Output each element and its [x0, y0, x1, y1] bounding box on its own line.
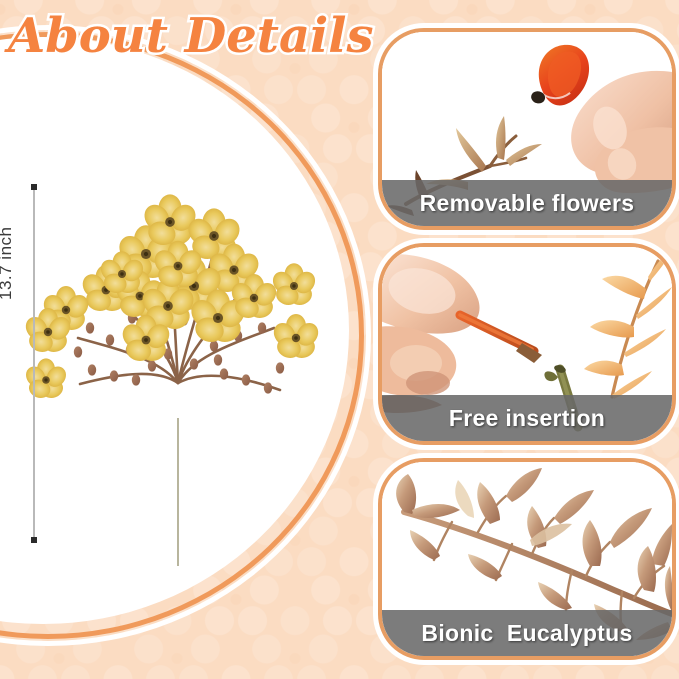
ruler-cap-top: [31, 184, 37, 190]
panel-caption-removable-flowers: Removable flowers: [382, 180, 672, 226]
page-title: About Details: [8, 8, 374, 64]
detail-panel-removable-flowers[interactable]: Removable flowers: [378, 28, 676, 230]
panel-caption-free-insertion: Free insertion: [382, 395, 672, 441]
panel-caption-bionic-eucalyptus: Bionic Eucalyptus: [382, 610, 672, 656]
detail-panel-free-insertion[interactable]: Free insertion: [378, 243, 676, 445]
measurement-label: 13.7 inch: [0, 227, 16, 301]
detail-panel-bionic-eucalyptus[interactable]: Bionic Eucalyptus: [378, 458, 676, 660]
product-bouquet-image: [18, 178, 348, 570]
measurement-ruler: [33, 185, 35, 542]
infographic-canvas: About Details 13.7 inch: [0, 0, 679, 679]
ruler-cap-bottom: [31, 537, 37, 543]
